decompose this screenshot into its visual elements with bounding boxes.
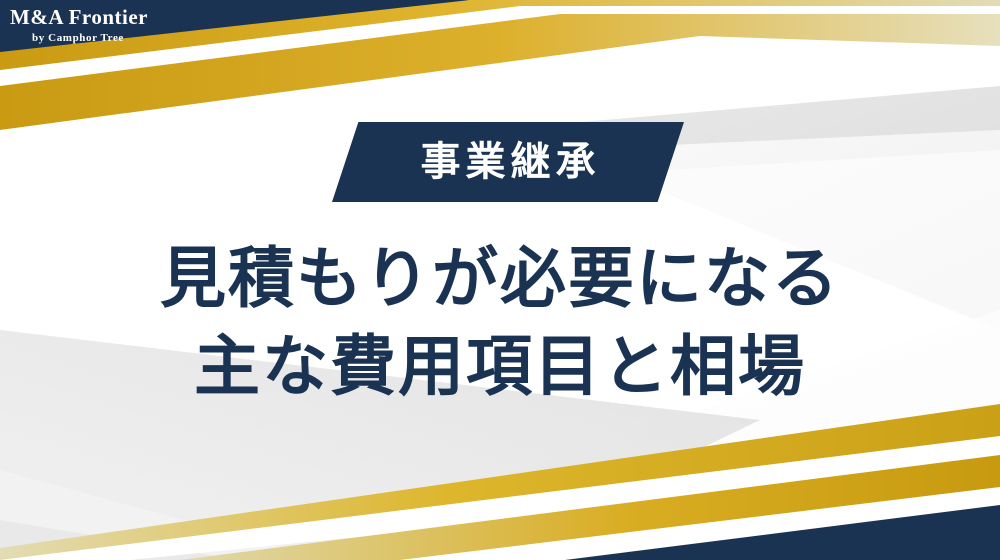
- page-title: 見積もりが必要になる 主な費用項目と相場: [0, 236, 1000, 412]
- category-badge-label: 事業継承: [332, 122, 684, 202]
- brand-logo: M&A Frontier by Camphor Tree: [0, 0, 200, 45]
- brand-tagline: by Camphor Tree: [10, 32, 200, 45]
- category-badge: 事業継承: [332, 122, 684, 202]
- title-line-1: 見積もりが必要になる: [0, 236, 1000, 324]
- brand-name: M&A Frontier: [10, 6, 200, 29]
- title-line-2: 主な費用項目と相場: [0, 324, 1000, 412]
- thumbnail-canvas: M&A Frontier by Camphor Tree 事業継承 見積もりが必…: [0, 0, 1000, 560]
